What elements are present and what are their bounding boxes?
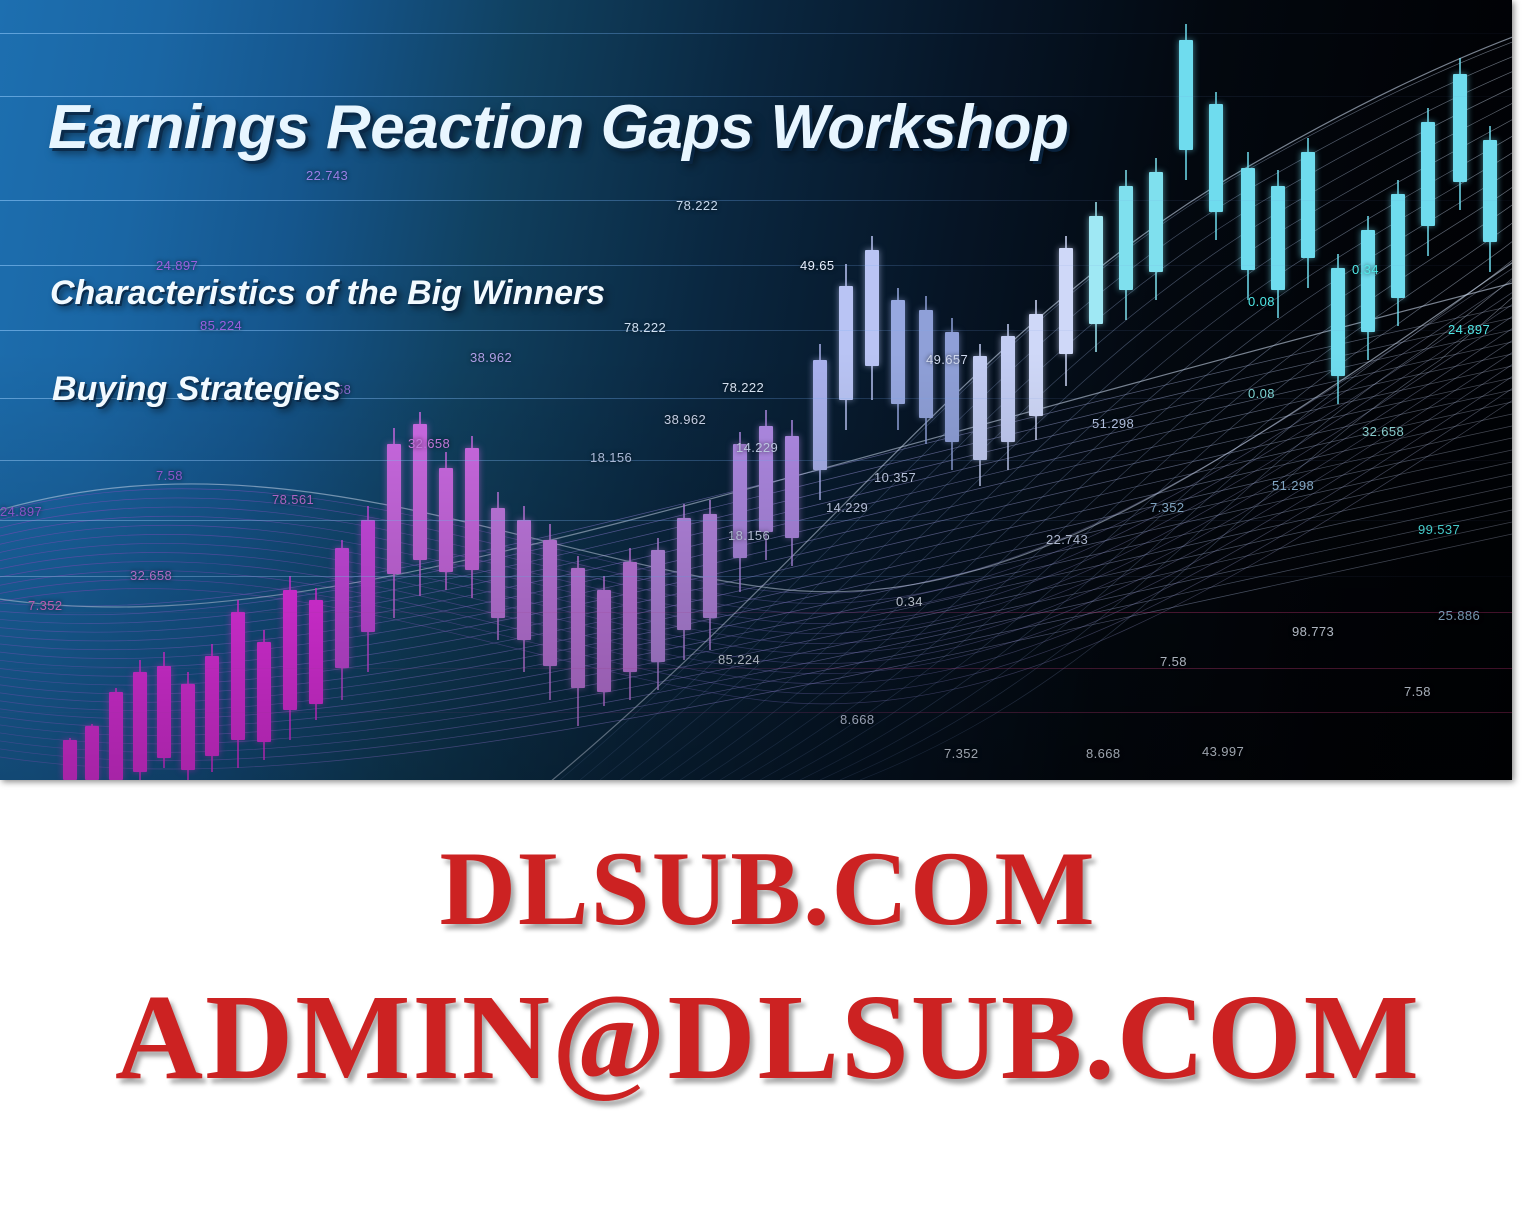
gridline	[0, 668, 1512, 669]
chart-value-label: 22.743	[1046, 532, 1088, 547]
candlestick	[1361, 216, 1375, 360]
candlestick	[109, 688, 123, 780]
candlestick	[1209, 92, 1223, 240]
candlestick	[491, 492, 505, 640]
chart-value-label: 14.229	[826, 500, 868, 515]
candlestick	[973, 344, 987, 486]
candlestick	[571, 556, 585, 726]
candlestick	[361, 506, 375, 672]
gridline	[0, 612, 1512, 613]
chart-value-label: 32.658	[1362, 424, 1404, 439]
candlestick	[919, 296, 933, 444]
candlestick-body	[283, 590, 297, 710]
candlestick	[785, 420, 799, 566]
candlestick	[733, 432, 747, 592]
chart-value-label: 18.156	[590, 450, 632, 465]
candlestick-body	[205, 656, 219, 756]
chart-value-label: 7.352	[944, 746, 979, 761]
candlestick	[1453, 58, 1467, 210]
chart-value-label: 51.298	[1272, 478, 1314, 493]
candlestick	[1029, 300, 1043, 440]
page-title: Earnings Reaction Gaps Workshop	[48, 92, 1068, 163]
candlestick	[891, 288, 905, 430]
candlestick	[623, 548, 637, 700]
chart-value-label: 49.65	[800, 258, 835, 273]
candlestick-body	[1453, 74, 1467, 182]
candlestick	[1001, 324, 1015, 470]
gridline	[0, 33, 1512, 34]
candlestick	[157, 652, 171, 768]
gridline	[0, 460, 1512, 461]
candlestick-body	[309, 600, 323, 704]
chart-value-label: 0.34	[896, 594, 923, 609]
candlestick-body	[1119, 186, 1133, 290]
chart-value-label: 32.658	[408, 436, 450, 451]
chart-value-label: 8.668	[840, 712, 875, 727]
candlestick-body	[335, 548, 349, 668]
chart-value-label: 24.897	[156, 258, 198, 273]
candlestick-body	[257, 642, 271, 742]
candlestick-body	[63, 740, 77, 780]
candlestick	[1483, 126, 1497, 272]
candlestick-body	[1483, 140, 1497, 242]
candlestick-body	[571, 568, 585, 688]
candlestick-body	[597, 590, 611, 692]
candlestick-body	[891, 300, 905, 404]
candlestick	[945, 318, 959, 470]
candlestick-body	[785, 436, 799, 538]
gridline	[0, 200, 1512, 201]
candlestick-body	[1149, 172, 1163, 272]
candlestick	[283, 576, 297, 740]
candlestick-body	[387, 444, 401, 574]
candlestick-body	[1421, 122, 1435, 226]
candlestick	[813, 344, 827, 500]
candlestick-body	[491, 508, 505, 618]
candlestick-body	[839, 286, 853, 400]
chart-value-label: 10.357	[874, 470, 916, 485]
candlestick	[181, 672, 195, 780]
candlestick	[865, 236, 879, 400]
chart-value-label: 51.298	[1092, 416, 1134, 431]
chart-value-label: 38.962	[470, 350, 512, 365]
chart-value-label: 7.352	[1150, 500, 1185, 515]
candlestick	[63, 738, 77, 780]
chart-value-label: 99.537	[1418, 522, 1460, 537]
candlestick	[387, 428, 401, 618]
chart-value-label: 78.222	[624, 320, 666, 335]
chart-value-label: 0.08	[1248, 294, 1275, 309]
chart-value-label: 8.668	[1086, 746, 1121, 761]
candlestick	[1149, 158, 1163, 300]
chart-value-label: 24.897	[1448, 322, 1490, 337]
candlestick	[517, 506, 531, 672]
candlestick-body	[945, 332, 959, 442]
watermark-site: DLSUB.COM	[0, 828, 1536, 950]
candlestick	[133, 660, 147, 780]
candlestick	[1331, 254, 1345, 404]
candlestick-body	[677, 518, 691, 630]
chart-value-label: 32.658	[130, 568, 172, 583]
candlestick	[1179, 24, 1193, 180]
candlestick	[205, 644, 219, 772]
chart-value-label: 98.773	[1292, 624, 1334, 639]
subtitle-one: Characteristics of the Big Winners	[50, 274, 605, 313]
gridline	[0, 520, 1512, 521]
candlestick-body	[543, 540, 557, 666]
candlestick-body	[1361, 230, 1375, 332]
candlestick	[597, 576, 611, 706]
chart-value-label: 43.997	[1202, 744, 1244, 759]
chart-value-label: 78.222	[722, 380, 764, 395]
candlestick	[839, 264, 853, 430]
candlestick-body	[651, 550, 665, 662]
chart-value-label: 38.962	[664, 412, 706, 427]
candlestick-body	[1271, 186, 1285, 290]
candlestick	[231, 600, 245, 768]
gridline	[0, 576, 1512, 577]
candlestick	[703, 500, 717, 650]
candlestick-body	[109, 692, 123, 780]
candlestick-body	[231, 612, 245, 740]
candlestick	[677, 504, 691, 660]
candlestick	[85, 724, 99, 780]
chart-value-label: 7.58	[1404, 684, 1431, 699]
candlestick	[1119, 170, 1133, 320]
banner-image: 22.74378.22224.89749.650.340.0885.22478.…	[0, 0, 1512, 780]
candlestick-body	[1059, 248, 1073, 354]
chart-value-label: 85.224	[200, 318, 242, 333]
chart-value-label: 18.156	[728, 528, 770, 543]
candlestick-body	[85, 726, 99, 780]
candlestick-body	[1241, 168, 1255, 270]
candlestick-body	[1391, 194, 1405, 298]
candlestick-body	[703, 514, 717, 618]
candlestick-body	[1301, 152, 1315, 258]
candlestick	[257, 630, 271, 760]
candlestick-body	[865, 250, 879, 366]
chart-value-label: 22.743	[306, 168, 348, 183]
chart-value-label: 14.229	[736, 440, 778, 455]
candlestick-body	[813, 360, 827, 470]
candlestick	[1391, 180, 1405, 326]
chart-value-label: 0.08	[1248, 386, 1275, 401]
candlestick-body	[181, 684, 195, 770]
candlestick	[439, 452, 453, 590]
candlestick-body	[465, 448, 479, 570]
candlestick	[335, 540, 349, 700]
candlestick	[309, 588, 323, 720]
candlestick-body	[1089, 216, 1103, 324]
chart-value-label: 0.34	[1352, 262, 1379, 277]
candlestick-body	[1331, 268, 1345, 376]
candlestick	[1059, 236, 1073, 386]
chart-value-label: 7.58	[156, 468, 183, 483]
chart-value-label: 49.657	[926, 352, 968, 367]
chart-value-label: 7.352	[28, 598, 63, 613]
candlestick-body	[133, 672, 147, 772]
chart-value-label: 85.224	[718, 652, 760, 667]
chart-value-label: 78.222	[676, 198, 718, 213]
candlestick-body	[973, 356, 987, 460]
candlestick	[1421, 108, 1435, 256]
subtitle-two: Buying Strategies	[52, 370, 341, 409]
chart-value-label: 24.897	[0, 504, 42, 519]
candlestick	[1241, 152, 1255, 300]
watermark-email: ADMIN@DLSUB.COM	[0, 968, 1536, 1108]
candlestick-body	[623, 562, 637, 672]
chart-value-label: 78.561	[272, 492, 314, 507]
candlestick-body	[1001, 336, 1015, 442]
candlestick-body	[1179, 40, 1193, 150]
chart-value-label: 7.58	[1160, 654, 1187, 669]
candlestick-body	[1209, 104, 1223, 212]
chart-value-label: 25.886	[1438, 608, 1480, 623]
page-root: 22.74378.22224.89749.650.340.0885.22478.…	[0, 0, 1536, 1232]
candlestick-body	[517, 520, 531, 640]
gridline	[0, 712, 1512, 713]
gridline	[0, 265, 1512, 266]
